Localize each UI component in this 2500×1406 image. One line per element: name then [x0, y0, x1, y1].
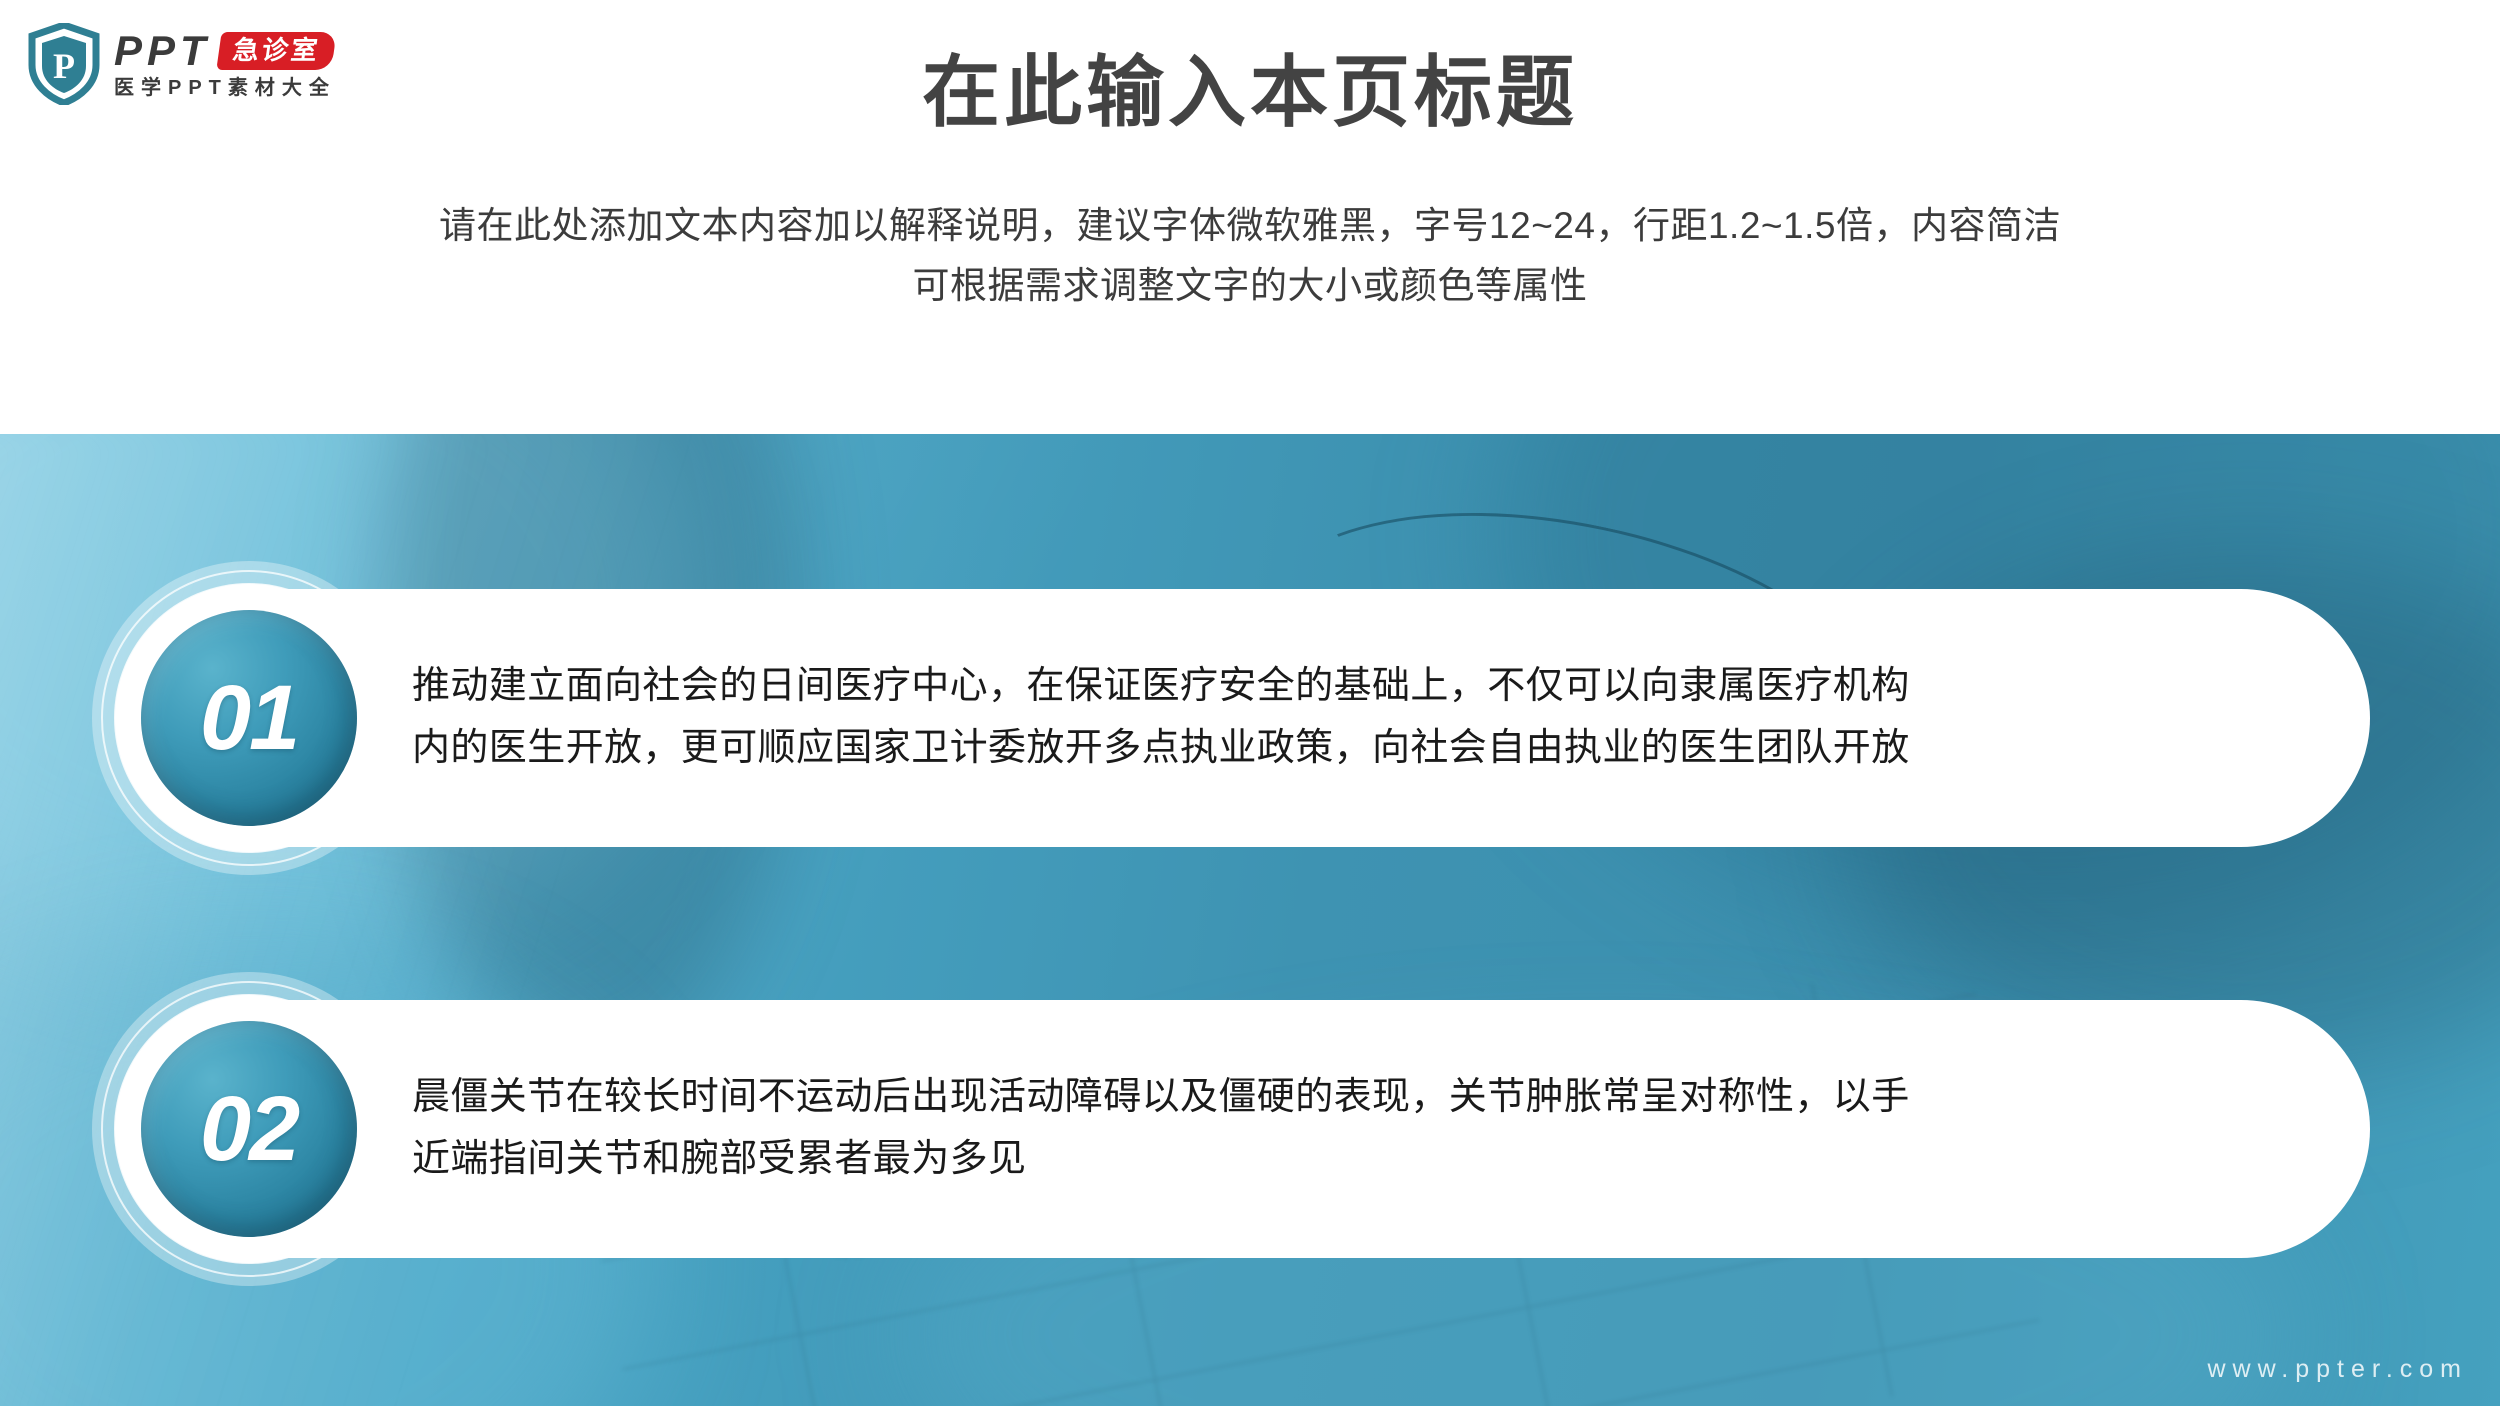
slide-root: 45 13:30 Volume 01 推动建立面向社会的日间医疗中心，在保证医疗…	[0, 0, 2500, 1406]
badge-circle: 01	[141, 610, 357, 826]
card-text-line: 内的医生开放，更可顺应国家卫计委放开多点执业政策，向社会自由执业的医生团队开放	[412, 718, 2284, 780]
card-body-text: 推动建立面向社会的日间医疗中心，在保证医疗安全的基础上，不仅可以向隶属医疗机构 …	[412, 656, 2284, 779]
background-photo: 45 13:30 Volume 01 推动建立面向社会的日间医疗中心，在保证医疗…	[0, 434, 2500, 1406]
card-text-line: 推动建立面向社会的日间医疗中心，在保证医疗安全的基础上，不仅可以向隶属医疗机构	[412, 656, 2284, 718]
badge-number: 01	[200, 672, 298, 764]
card-text-line: 晨僵关节在较长时间不运动后出现活动障碍以及僵硬的表现，关节肿胀常呈对称性，以手	[412, 1067, 2284, 1129]
subtitle-line: 可根据需求调整文字的大小或颜色等属性	[0, 256, 2500, 316]
header-band: P PPT 急诊室 医学PPT素材大全 在此输入本页标题 请在此处添加文本内容加…	[0, 0, 2500, 434]
badge-circle: 02	[141, 1021, 357, 1237]
card-badge: 01	[84, 553, 414, 883]
page-title: 在此输入本页标题	[0, 48, 2500, 138]
page-subtitle: 请在此处添加文本内容加以解释说明，建议字体微软雅黑，字号12~24，行距1.2~…	[0, 196, 2500, 316]
content-card[interactable]: 01 推动建立面向社会的日间医疗中心，在保证医疗安全的基础上，不仅可以向隶属医疗…	[152, 589, 2370, 847]
footer-url: www.ppter.com	[2207, 1355, 2468, 1384]
subtitle-line: 请在此处添加文本内容加以解释说明，建议字体微软雅黑，字号12~24，行距1.2~…	[0, 196, 2500, 256]
content-card[interactable]: 02 晨僵关节在较长时间不运动后出现活动障碍以及僵硬的表现，关节肿胀常呈对称性，…	[152, 1000, 2370, 1258]
card-text-line: 近端指间关节和腕部受累者最为多见	[412, 1129, 2284, 1191]
card-body-text: 晨僵关节在较长时间不运动后出现活动障碍以及僵硬的表现，关节肿胀常呈对称性，以手 …	[412, 1067, 2284, 1190]
card-badge: 02	[84, 964, 414, 1294]
badge-number: 02	[200, 1083, 298, 1175]
